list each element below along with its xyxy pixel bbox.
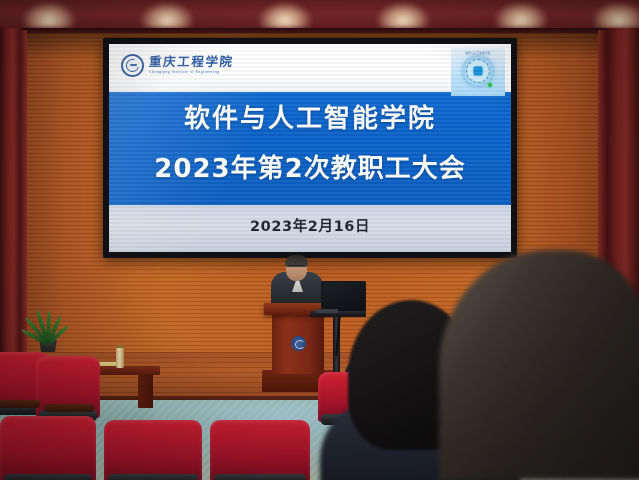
- ceiling-light-1: [22, 2, 76, 28]
- seat-armrest: [44, 404, 94, 412]
- projection-screen-frame: 重庆工程学院 Chongqing Institute of Engineerin…: [103, 38, 517, 258]
- ceiling-light-4: [376, 2, 430, 28]
- badge-accent-dot-icon: [488, 83, 492, 87]
- auditorium-photo: 重庆工程学院 Chongqing Institute of Engineerin…: [0, 0, 639, 480]
- pillar-left: [0, 28, 22, 360]
- thermos-cap: [116, 345, 124, 348]
- seat-armrest: [0, 400, 40, 408]
- potted-fern-left: [20, 295, 76, 357]
- speaker-glasses-icon: [288, 265, 305, 270]
- badge-core-icon: [474, 67, 483, 76]
- university-logo-text: 重庆工程学院 Chongqing Institute of Engineerin…: [149, 56, 234, 74]
- seat: [210, 420, 310, 480]
- university-name-cn: 重庆工程学院: [148, 56, 234, 69]
- keyboard: [316, 309, 338, 313]
- ceiling-light-3: [258, 2, 312, 28]
- podium-school-emblem-icon: [291, 336, 306, 351]
- university-emblem-icon: [121, 54, 144, 77]
- thermos-cup: [116, 347, 124, 368]
- university-logo-lockup: 重庆工程学院 Chongqing Institute of Engineerin…: [121, 54, 234, 77]
- slide-title-line-1: 软件与人工智能学院: [109, 98, 511, 135]
- ceiling-light-5: [494, 2, 548, 28]
- seat: [0, 416, 96, 480]
- projection-screen-surface: 重庆工程学院 Chongqing Institute of Engineerin…: [109, 44, 511, 252]
- slide-title-line-2: 2023年第2次教职工大会: [109, 148, 511, 185]
- slide-date-text: 2023年2月16日: [109, 215, 511, 236]
- university-name-en: Chongqing Institute of Engineering: [149, 71, 234, 75]
- ceiling-light-2: [140, 2, 194, 28]
- ceiling-light-6: [592, 2, 639, 28]
- ai-department-badge: 软件与人工智能学院: [451, 48, 505, 96]
- seat: [104, 420, 202, 480]
- side-table-leg-right: [138, 374, 153, 408]
